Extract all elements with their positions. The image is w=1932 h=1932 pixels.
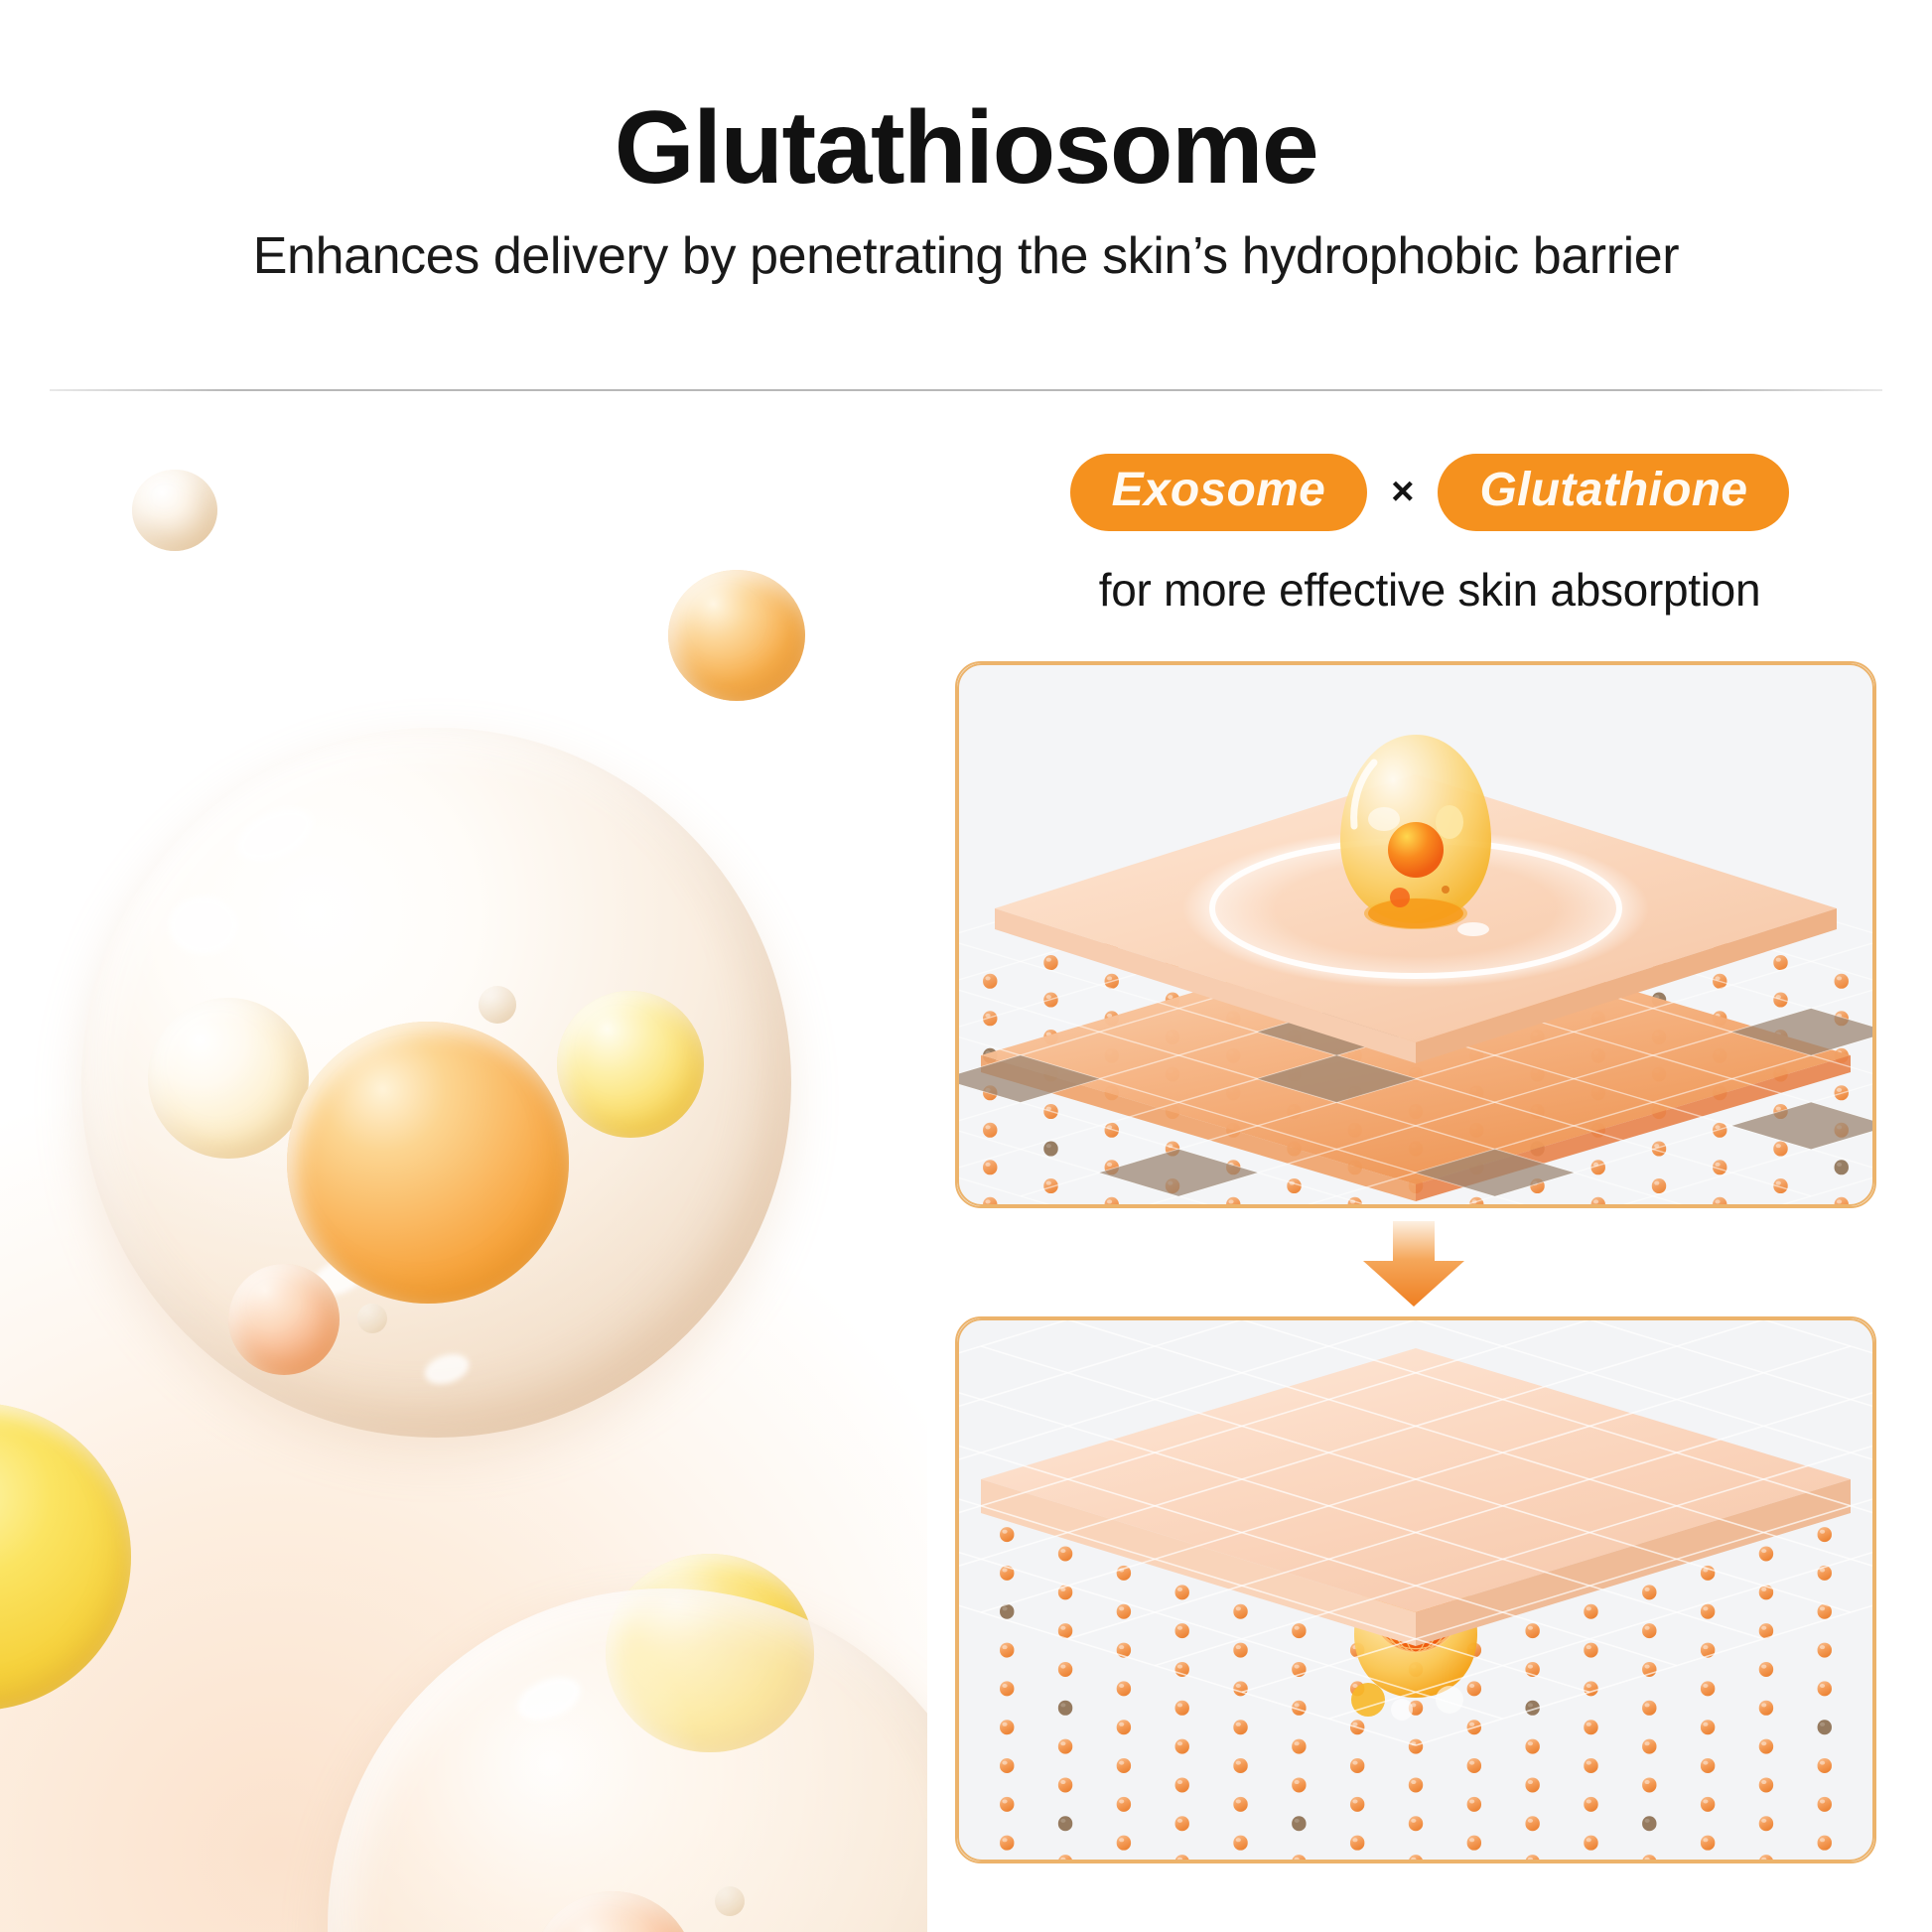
bubble-inner-cream bbox=[148, 998, 309, 1159]
bubble-inner-micro-2 bbox=[357, 1304, 387, 1333]
page-header: Glutathiosome Enhances delivery by penet… bbox=[0, 0, 1932, 390]
top-panel-illustration bbox=[957, 663, 1874, 1206]
badge-glutathione[interactable]: Glutathione bbox=[1438, 454, 1789, 531]
page-subtitle: Enhances delivery by penetrating the ski… bbox=[0, 226, 1932, 286]
times-symbol: × bbox=[1391, 472, 1414, 514]
bubble-edge-yellow bbox=[0, 1403, 131, 1711]
bubble-inner-amber-core bbox=[287, 1022, 569, 1304]
bottom-panel-illustration bbox=[957, 1318, 1874, 1862]
bubble-lower-peach bbox=[531, 1891, 695, 1932]
badge-row: Exosome × Glutathione bbox=[927, 454, 1932, 531]
bubble-inner-micro bbox=[479, 986, 516, 1024]
bubble-tiny-top-left bbox=[132, 470, 217, 551]
bubble-inner-yellow bbox=[557, 991, 704, 1138]
page-title: Glutathiosome bbox=[0, 94, 1932, 203]
bubble-lower-shell bbox=[328, 1588, 927, 1932]
badge-exosome[interactable]: Exosome bbox=[1070, 454, 1368, 531]
right-column: Exosome × Glutathione for more effective… bbox=[927, 392, 1932, 1932]
badge-caption: for more effective skin absorption bbox=[927, 563, 1932, 617]
header-divider bbox=[50, 389, 1882, 391]
bubble-illustration-panel bbox=[0, 392, 927, 1932]
panel-droplet-on-surface bbox=[955, 661, 1876, 1208]
flow-arrow-down bbox=[1355, 1221, 1472, 1307]
panel-droplet-penetrating bbox=[955, 1316, 1876, 1863]
bubble-inner-peach bbox=[228, 1264, 340, 1375]
bubble-lower-micro bbox=[715, 1886, 745, 1916]
bubble-main-shell bbox=[81, 728, 791, 1438]
bubble-amber-upper bbox=[668, 570, 805, 701]
